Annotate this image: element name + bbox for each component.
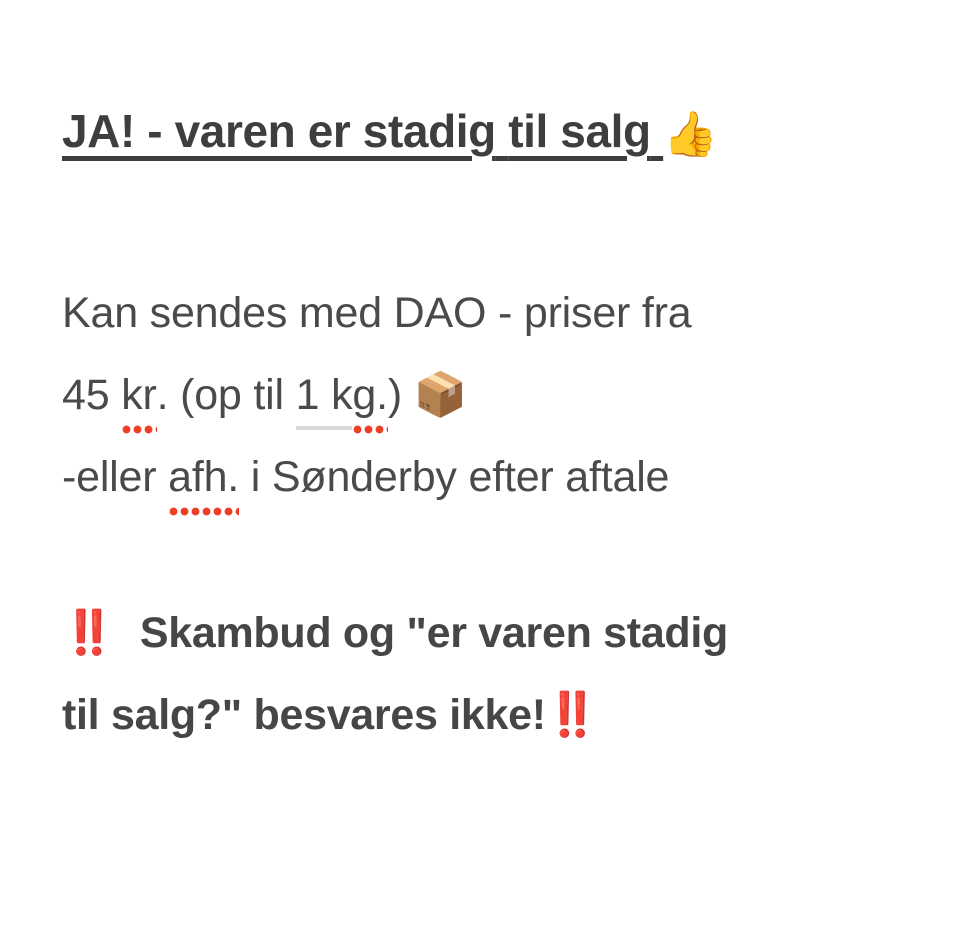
- pickup-location: i Sønderby efter aftale: [239, 453, 669, 501]
- spellcheck-word-kr: kr: [121, 354, 156, 436]
- spellcheck-word-kg: g.: [352, 354, 387, 436]
- listing-description-note: JA! - varen er stadig til salg 👍 Kan sen…: [0, 0, 960, 931]
- shipping-close-paren: ): [388, 371, 402, 419]
- headline-underlined-part-one: JA! - varen er stadig: [62, 105, 496, 157]
- headline-trailing-underline: [651, 105, 663, 157]
- warning-paragraph: ‼️ Skambud og "er varen stadig til salg?…: [62, 592, 942, 756]
- shipping-emoji-space: [402, 371, 414, 419]
- spellcheck-word-afh: afh.: [168, 436, 239, 518]
- shipping-info-paragraph: Kan sendes med DAO - priser fra 45 kr. (…: [62, 272, 942, 518]
- warning-leading-space: [117, 609, 140, 657]
- warning-text-line-2: til salg?" besvares ikke!: [62, 691, 546, 739]
- suggestion-word-1kg: 1 k: [296, 354, 353, 436]
- package-box-icon: 📦: [414, 370, 467, 420]
- thumbs-up-icon: 👍: [663, 109, 717, 160]
- pickup-prefix: -eller: [62, 453, 168, 501]
- warning-text-line-1: Skambud og "er varen stadig: [140, 609, 728, 657]
- shipping-price-prefix: 45: [62, 371, 121, 419]
- warning-line-2: til salg?" besvares ikke!‼️: [62, 674, 942, 756]
- headline-space: [496, 105, 508, 157]
- double-exclamation-leading-icon: ‼️: [62, 608, 117, 658]
- shipping-weight-prefix: . (op til: [157, 371, 296, 419]
- headline-underlined-part-two: til salg: [508, 105, 651, 157]
- shipping-line-2: 45 kr. (op til 1 kg.) 📦: [62, 354, 942, 436]
- double-exclamation-trailing-icon: ‼️: [546, 690, 601, 740]
- shipping-line-1: Kan sendes med DAO - priser fra: [62, 272, 942, 354]
- shipping-line-3: -eller afh. i Sønderby efter aftale: [62, 436, 942, 518]
- warning-line-1: ‼️ Skambud og "er varen stadig: [62, 592, 942, 674]
- page-title: JA! - varen er stadig til salg 👍: [62, 108, 922, 157]
